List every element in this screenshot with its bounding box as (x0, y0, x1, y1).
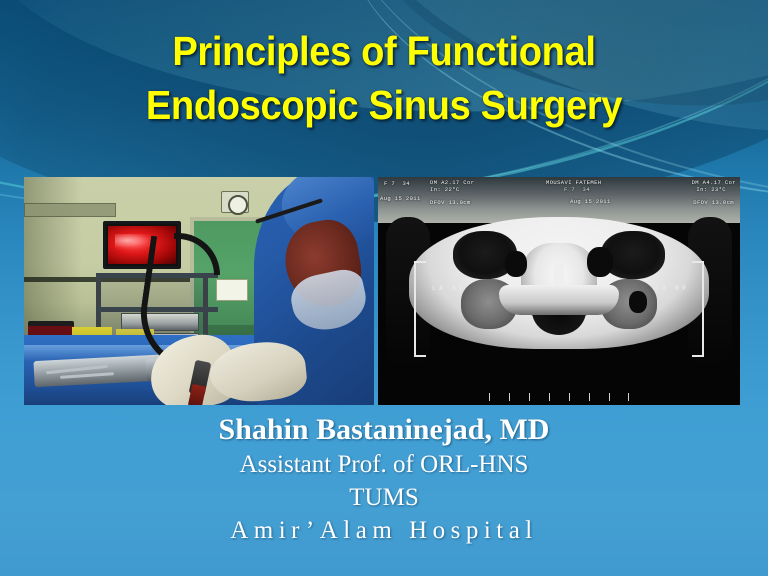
operating-room-photo (24, 177, 374, 405)
ct-overlay-series-left: DM A2.17 Cor (430, 179, 474, 186)
ct-ethmoid-air-cell (587, 247, 613, 277)
ct-overlay-patient-id-left: F 7 34 (384, 180, 410, 187)
ct-scale-ruler (489, 393, 629, 401)
ct-ethmoid-air-cell (505, 251, 527, 277)
ct-orientation-marker-left-b: R P (452, 285, 463, 292)
slide-title-line-1: Principles of Functional (27, 24, 741, 78)
presenter-block: Shahin Bastaninejad, MD Assistant Prof. … (0, 412, 768, 548)
presenter-name: Shahin Bastaninejad, MD (0, 412, 768, 448)
slide-title-line-2: Endoscopic Sinus Surgery (27, 78, 741, 132)
ct-overlay-patient-id: F 7 34 (564, 186, 590, 193)
ct-scan-photo: L A R P L A R P F 7 34 Aug 15 2011 DM A2… (378, 177, 740, 405)
ct-overlay-series-right: DM A4.17 Cor (692, 179, 736, 186)
ct-hard-palate (499, 285, 619, 315)
ct-overlay-temp-right: In: 23*C (696, 186, 726, 193)
ct-facial-bones (409, 217, 709, 349)
ct-overlay-fov-right: DFOV 13.0cm (693, 199, 734, 206)
or-wall-vent (24, 203, 116, 217)
ct-overlay-fov-left: DFOV 13.0cm (430, 199, 471, 206)
ct-bracket-right (692, 261, 704, 357)
or-door-sign (216, 279, 248, 301)
or-wall-clock (221, 191, 249, 213)
ct-overlay-patient-name: MOUSAVI FATEMEH (546, 179, 602, 186)
presenter-role: Assistant Prof. of ORL-HNS (0, 448, 768, 481)
ct-orientation-marker-right-b: R P (675, 285, 686, 292)
presenter-hospital: Amir’Alam Hospital (0, 514, 768, 548)
presentation-slide: Principles of Functional Endoscopic Sinu… (0, 0, 768, 576)
ct-overlay-date: Aug 15 2011 (570, 198, 611, 205)
ct-bracket-left (414, 261, 426, 357)
ct-orientation-marker-right-a: L A (655, 285, 666, 292)
presenter-org: TUMS (0, 481, 768, 514)
slide-title: Principles of Functional Endoscopic Sinu… (0, 24, 768, 132)
image-row: L A R P L A R P F 7 34 Aug 15 2011 DM A2… (24, 177, 740, 405)
ct-overlay-temp-left: In: 22*C (430, 186, 460, 193)
ct-orientation-marker-left-a: L A (432, 285, 443, 292)
ct-air-pocket (629, 291, 647, 313)
ct-overlay-date-left: Aug 15 2011 (380, 195, 421, 202)
